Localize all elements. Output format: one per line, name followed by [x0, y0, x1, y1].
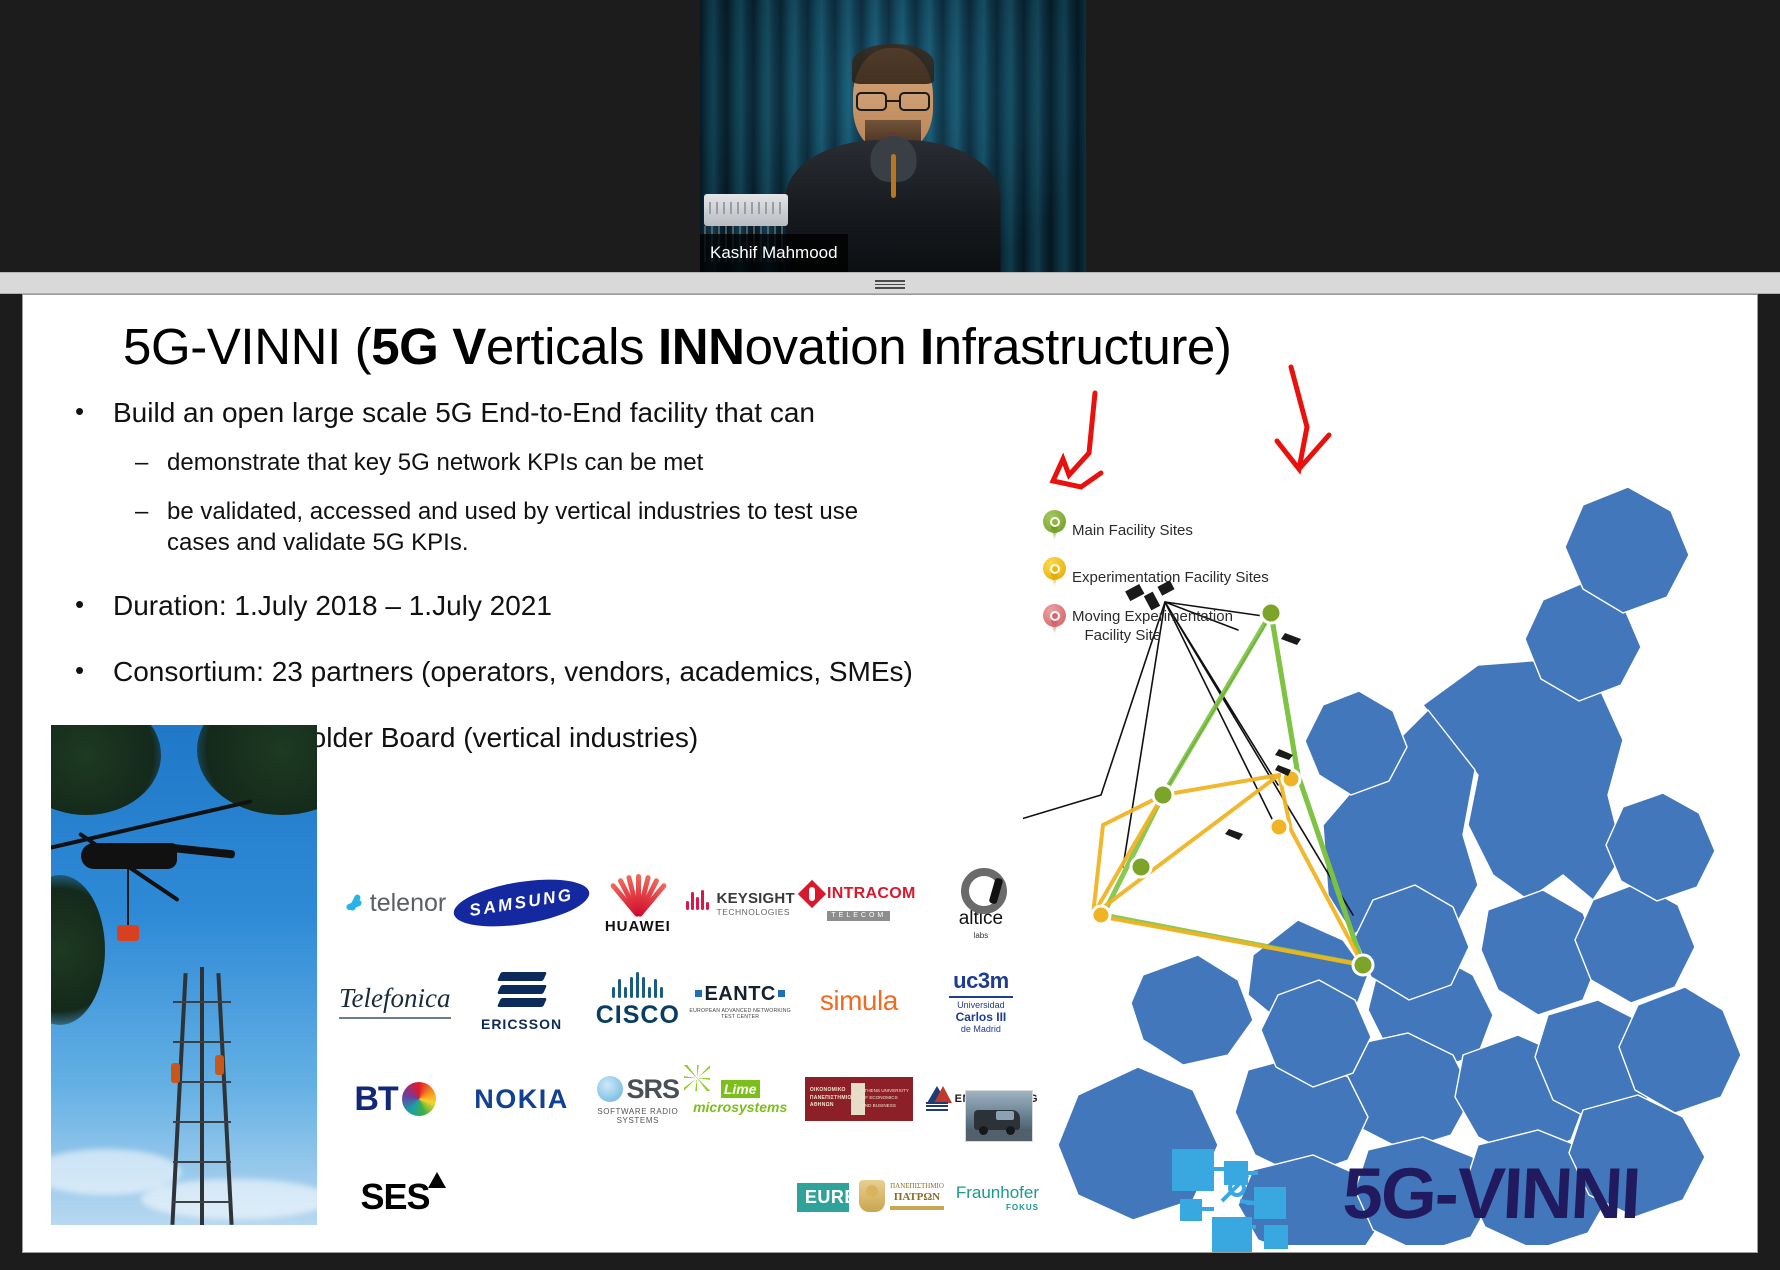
logo-sublabel: TELECOM	[827, 911, 890, 921]
logo-label: EANTC	[704, 983, 775, 1005]
bullet-text: Build an open large scale 5G End-to-End …	[113, 395, 815, 431]
map-legend: Main Facility Sites Experimentation Faci…	[1043, 510, 1269, 662]
bullet-item: • Build an open large scale 5G End-to-En…	[75, 395, 975, 431]
bullet-text: Consortium: 23 partners (operators, vend…	[113, 654, 913, 690]
lifted-load	[117, 925, 139, 941]
logo-label: NOKIA	[474, 1084, 569, 1115]
glasses-icon	[856, 92, 930, 111]
logo-label: ΠΑΤΡΩΝ	[890, 1191, 944, 1205]
logo-line1: Universidad	[949, 1000, 1013, 1010]
logo-aueb: ΟΙΚΟΝΟΜΙΚΟΠΑΝΕΠΙΣΤΗΜΙΟΑΘΗΝΩΝ ATHENS UNIV…	[797, 1051, 921, 1147]
keysight-wave-icon	[686, 892, 712, 914]
helicopter-tail	[167, 843, 235, 858]
logo-huawei: HUAWEI	[592, 855, 683, 951]
logo-bt: BT	[339, 1051, 451, 1147]
logo-label: KEYSIGHT	[717, 890, 795, 907]
logo-sublabel: ΠΑΝΕΠΙΣΤΗΜΙΟ	[890, 1182, 944, 1190]
logo-lime-microsystems: Lime microsystems	[686, 1051, 795, 1147]
title-part-5: ovation	[745, 318, 920, 375]
panel-splitter[interactable]	[0, 272, 1780, 294]
logo-altice: altice labs	[923, 855, 1039, 951]
title-part-4: INN	[658, 318, 745, 375]
intracom-mark-icon	[798, 880, 826, 908]
title-part-3: erticals	[486, 318, 658, 375]
logo-university-of-patras: ΠΑΝΕΠΙΣΤΗΜΙΟ ΠΑΤΡΩΝ	[849, 1161, 954, 1231]
logo-ericsson: ERICSSON	[453, 953, 590, 1049]
vinni-brand-logo: 5G-VINNI	[1158, 1143, 1748, 1253]
map-pin-red-icon	[1043, 604, 1066, 635]
legend-item-main-facility: Main Facility Sites	[1043, 510, 1269, 541]
patras-crest-icon	[859, 1180, 885, 1212]
logo-label: INTRACOM	[827, 885, 916, 903]
sub-bullet-text: be validated, accessed and used by verti…	[167, 496, 867, 558]
presentation-slide: 5G-VINNI (5G Verticals INNovation Infras…	[23, 295, 1757, 1252]
logo-intracom: INTRACOM TELECOM	[797, 855, 921, 951]
logo-sublabel: EUROPEAN ADVANCED NETWORKING TEST CENTER	[686, 1008, 795, 1020]
logo-telenor: telenor	[339, 855, 451, 951]
bullet-marker: •	[75, 395, 113, 431]
logo-spacer	[453, 1149, 590, 1245]
logo-label: telenor	[370, 889, 446, 917]
logo-cisco: CISCO	[592, 953, 683, 1049]
huawei-fan-icon	[603, 872, 673, 916]
logo-sublabel: SOFTWARE RADIO SYSTEMS	[592, 1107, 683, 1125]
bullet-text: Duration: 1.July 2018 – 1.July 2021	[113, 588, 552, 624]
screen-root: Kashif Mahmood 5G-VINNI (5G Verticals IN…	[0, 0, 1780, 1270]
srs-dot-icon	[597, 1076, 623, 1102]
logo-keysight: KEYSIGHT TECHNOLOGIES	[686, 855, 795, 951]
logo-label: Telefonica	[339, 983, 451, 1013]
cisco-bridge-icon	[596, 972, 680, 998]
keyboard-object	[704, 194, 788, 226]
lime-spark-icon	[684, 1065, 710, 1091]
vinni-wordmark: 5G-VINNI	[1341, 1153, 1641, 1235]
tower-mast	[173, 965, 231, 1225]
logo-label: SES	[360, 1176, 429, 1217]
logo-simula: simula	[797, 953, 921, 1049]
bullet-list: • Build an open large scale 5G End-to-En…	[75, 395, 975, 772]
logo-label: ERICSSON	[481, 1016, 562, 1032]
logo-sublabel: TECHNOLOGIES	[717, 907, 795, 917]
mobile-facility-photo	[965, 1090, 1033, 1142]
logo-label: simula	[820, 985, 898, 1017]
logo-label: HUAWEI	[603, 919, 673, 935]
participant-name-label: Kashif Mahmood	[700, 234, 848, 272]
logo-sublabel: labs	[959, 931, 1003, 940]
legend-label: Experimentation Facility Sites	[1072, 557, 1269, 588]
telenor-mark-icon	[344, 893, 366, 915]
lifting-cable	[127, 869, 129, 927]
map-pin-yellow-icon	[1043, 557, 1066, 588]
drag-handle-icon[interactable]	[875, 279, 905, 288]
legend-label: Main Facility Sites	[1072, 510, 1193, 541]
legend-item-experimentation-facility: Experimentation Facility Sites	[1043, 557, 1269, 588]
logo-eantc: EANTC EUROPEAN ADVANCED NETWORKING TEST …	[686, 953, 795, 1049]
hair-shape	[852, 44, 934, 84]
sub-bullet-marker: –	[135, 496, 167, 558]
map-annotation-arrows	[1053, 367, 1329, 487]
legend-item-moving-facility: Moving Experimentation Facility Site	[1043, 604, 1269, 646]
europe-facility-map: Main Facility Sites Experimentation Faci…	[1023, 355, 1753, 1245]
altice-mark-icon	[961, 866, 1001, 906]
logo-label: CISCO	[596, 1001, 680, 1030]
bullet-marker: •	[75, 588, 113, 624]
bt-globe-icon	[402, 1082, 436, 1116]
title-part-2: 5G V	[371, 318, 486, 375]
logo-label: SRS	[627, 1074, 680, 1105]
helicopter-mast-photo	[51, 725, 317, 1225]
video-conference-strip: Kashif Mahmood	[0, 0, 1780, 272]
bullet-item: • Consortium: 23 partners (operators, ve…	[75, 654, 975, 690]
logo-line3: de Madrid	[949, 1024, 1013, 1034]
ses-caret-icon	[428, 1172, 446, 1188]
participant-video-tile[interactable]: Kashif Mahmood	[700, 0, 1086, 272]
logo-label: SAMSUNG	[451, 872, 593, 935]
title-part-1: 5G-VINNI (	[123, 318, 371, 375]
logo-samsung: SAMSUNG	[453, 855, 590, 951]
sub-bullet-marker: –	[135, 447, 167, 478]
title-part-6: I	[920, 318, 934, 375]
sub-bullet-item: – be validated, accessed and used by ver…	[135, 496, 975, 558]
engineering-mark-icon	[924, 1086, 950, 1112]
bullet-marker: •	[75, 654, 113, 690]
logo-label: uc3m	[949, 968, 1013, 994]
logo-ses: SES	[339, 1149, 451, 1245]
legend-label: Moving Experimentation Facility Site	[1072, 604, 1233, 646]
logo-line2: Carlos III	[949, 1010, 1013, 1024]
logo-srs: SRS SOFTWARE RADIO SYSTEMS	[592, 1051, 683, 1147]
vinni-block-mark-icon	[1158, 1143, 1338, 1253]
slide-viewer[interactable]: 5G-VINNI (5G Verticals INNovation Infras…	[22, 294, 1758, 1253]
logo-nokia: NOKIA	[453, 1051, 590, 1147]
sub-bullet-item: – demonstrate that key 5G network KPIs c…	[135, 447, 975, 478]
sub-bullet-text: demonstrate that key 5G network KPIs can…	[167, 447, 703, 478]
logo-spacer	[686, 1149, 795, 1245]
aueb-crest-icon: ΟΙΚΟΝΟΜΙΚΟΠΑΝΕΠΙΣΤΗΜΙΟΑΘΗΝΩΝ ATHENS UNIV…	[805, 1077, 913, 1121]
map-pin-green-icon	[1043, 510, 1066, 541]
map-graphic	[1023, 355, 1753, 1245]
zipper-shape	[891, 154, 896, 198]
logo-uc3m: uc3m Universidad Carlos III de Madrid	[923, 953, 1039, 1049]
bullet-item: • Duration: 1.July 2018 – 1.July 2021	[75, 588, 975, 624]
logo-label: BT	[354, 1080, 397, 1119]
logo-spacer	[592, 1149, 683, 1245]
logo-telefonica: Telefonica	[339, 953, 451, 1049]
ericsson-mark-icon	[499, 970, 545, 1012]
